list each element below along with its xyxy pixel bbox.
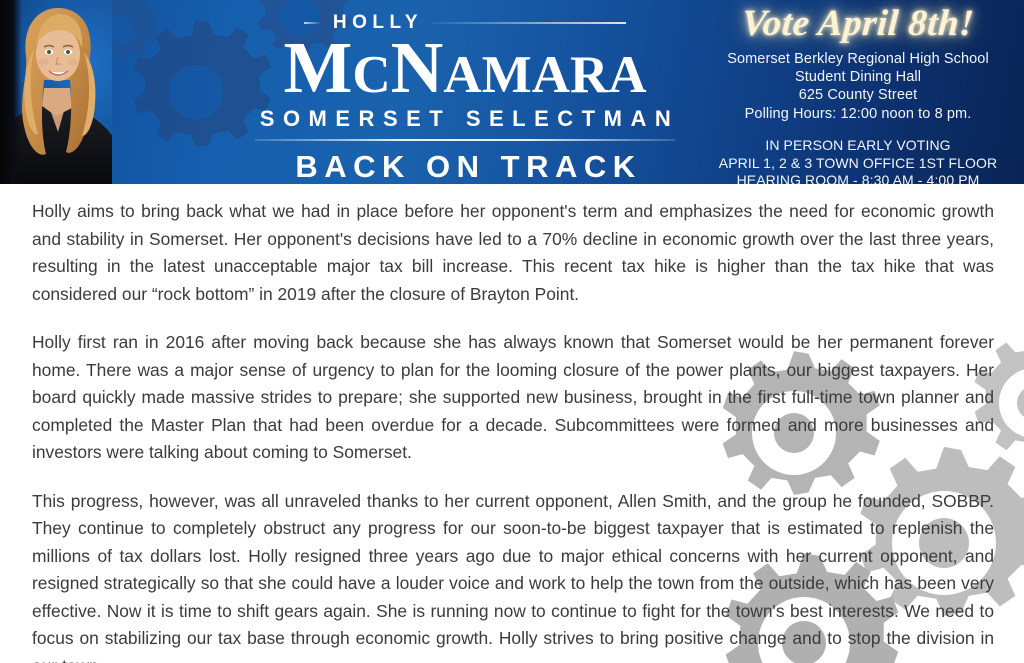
polling-line: Student Dining Hall — [700, 68, 1016, 86]
flyer-body: Holly aims to bring back what we had in … — [0, 184, 1024, 663]
early-voting-line: HEARING ROOM - 8:30 AM - 4:00 PM — [700, 172, 1016, 184]
polling-line: Somerset Berkley Regional High School — [700, 50, 1016, 68]
polling-line: 625 County Street — [700, 86, 1016, 104]
candidate-last-name: MCNAMARA — [200, 34, 730, 102]
early-voting-line: APRIL 1, 2 & 3 TOWN OFFICE 1ST FLOOR — [700, 155, 1016, 173]
paragraph: Holly aims to bring back what we had in … — [32, 198, 994, 308]
candidate-office: SOMERSET SELECTMAN — [200, 106, 730, 132]
rule-right — [431, 22, 626, 24]
campaign-slogan: BACK ON TRACK — [200, 149, 730, 184]
candidate-photo — [0, 0, 112, 184]
candidate-headline: HOLLY MCNAMARA SOMERSET SELECTMAN BACK O… — [200, 4, 730, 184]
vote-info-block: Vote April 8th! Somerset Berkley Regiona… — [700, 2, 1016, 184]
rule-left — [304, 22, 320, 24]
campaign-flyer: HOLLY MCNAMARA SOMERSET SELECTMAN BACK O… — [0, 0, 1024, 663]
first-name-row: HOLLY — [200, 10, 730, 36]
office-divider — [255, 139, 675, 141]
polling-line: Polling Hours: 12:00 noon to 8 pm. — [700, 105, 1016, 123]
vote-date-headline: Vote April 8th! — [699, 5, 1018, 44]
paragraph: Holly first ran in 2016 after moving bac… — [32, 329, 994, 467]
paragraph: This progress, however, was all unravele… — [32, 488, 994, 663]
flyer-copy: Holly aims to bring back what we had in … — [32, 198, 994, 663]
polling-location-lines: Somerset Berkley Regional High School St… — [700, 50, 1016, 123]
photo-edge-shadow — [0, 0, 22, 184]
early-voting-line: IN PERSON EARLY VOTING — [700, 137, 1016, 155]
campaign-banner: HOLLY MCNAMARA SOMERSET SELECTMAN BACK O… — [0, 0, 1024, 184]
early-voting-lines: IN PERSON EARLY VOTING APRIL 1, 2 & 3 TO… — [700, 137, 1016, 184]
